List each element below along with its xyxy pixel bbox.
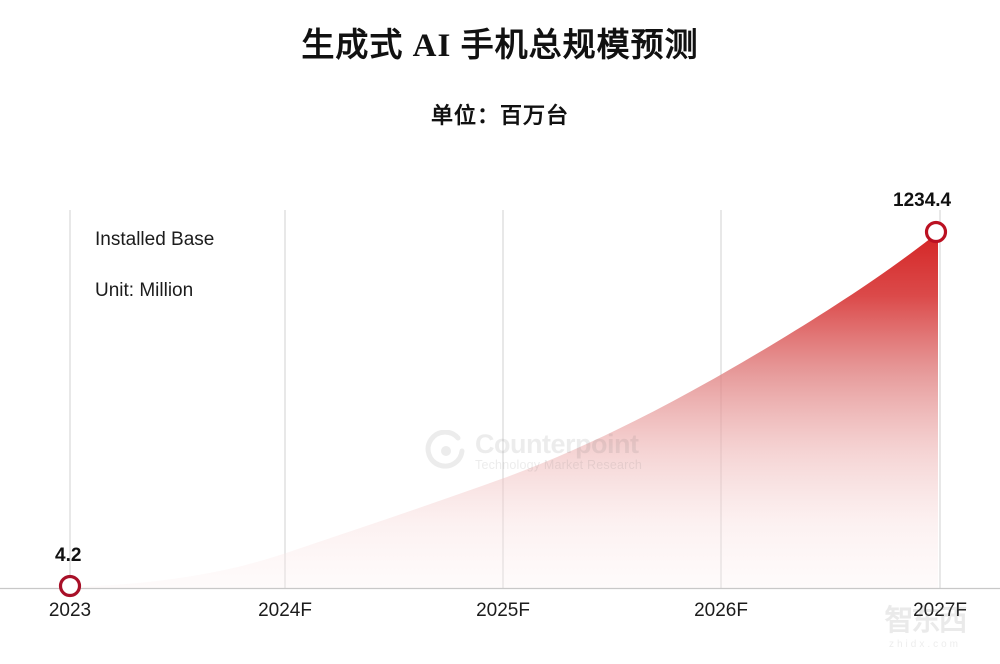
x-tick-label-2027f: 2027F	[913, 600, 967, 622]
area-series-installed-base	[70, 232, 938, 588]
x-tick-label-2024f: 2024F	[258, 600, 312, 622]
x-tick-label-2025f: 2025F	[476, 600, 530, 622]
area-chart-svg	[0, 0, 1000, 664]
series-label-installed-base: Installed Base	[95, 229, 214, 251]
x-tick-label-2026f: 2026F	[694, 600, 748, 622]
series-label-unit: Unit: Million	[95, 280, 193, 302]
data-label-2027f: 1234.4	[893, 190, 951, 212]
data-point-marker-2027f	[927, 223, 946, 242]
data-point-marker-2023	[61, 577, 80, 596]
x-tick-label-2023: 2023	[49, 600, 91, 622]
chart-plot-area: Installed Base Unit: Million 4.2 1234.4 …	[0, 0, 1000, 664]
data-label-2023: 4.2	[55, 545, 81, 567]
